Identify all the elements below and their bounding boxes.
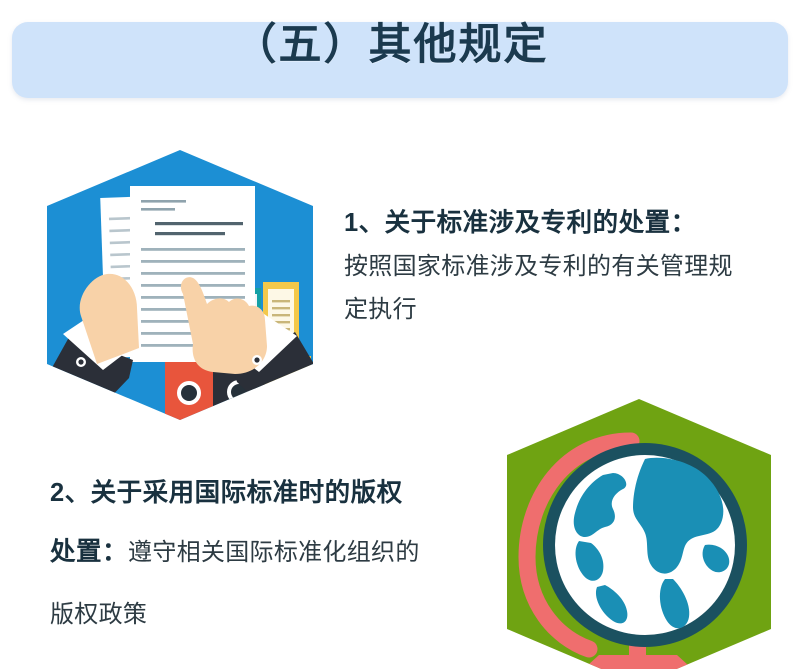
section-patent-handling: 1、关于标准涉及专利的处置： 按照国家标准涉及专利的有关管理规 定执行 [344,202,774,331]
page-title: （五）其他规定 [0,22,776,68]
section-1-body-line-1: 按照国家标准涉及专利的有关管理规 [344,245,774,288]
section-1-heading: 1、关于标准涉及专利的处置： [344,202,774,245]
section-2-body-line-2: 版权政策 [50,593,480,636]
section-2-heading-line-2: 处置： [50,538,128,566]
section-2-heading-line-1: 2、关于采用国际标准时的版权 [50,472,480,515]
section-international-standard-copyright: 2、关于采用国际标准时的版权 处置：遵守相关国际标准化组织的 版权政策 [50,472,480,636]
section-2-heading-body-line: 处置：遵守相关国际标准化组织的 [50,531,480,577]
globe-hexagon-icon [505,397,773,669]
infographic-page: （五）其他规定 [0,0,793,669]
section-1-body-line-2: 定执行 [344,288,774,331]
documents-in-hands-hexagon-icon [45,148,315,422]
section-2-body-line-1: 遵守相关国际标准化组织的 [128,539,420,566]
